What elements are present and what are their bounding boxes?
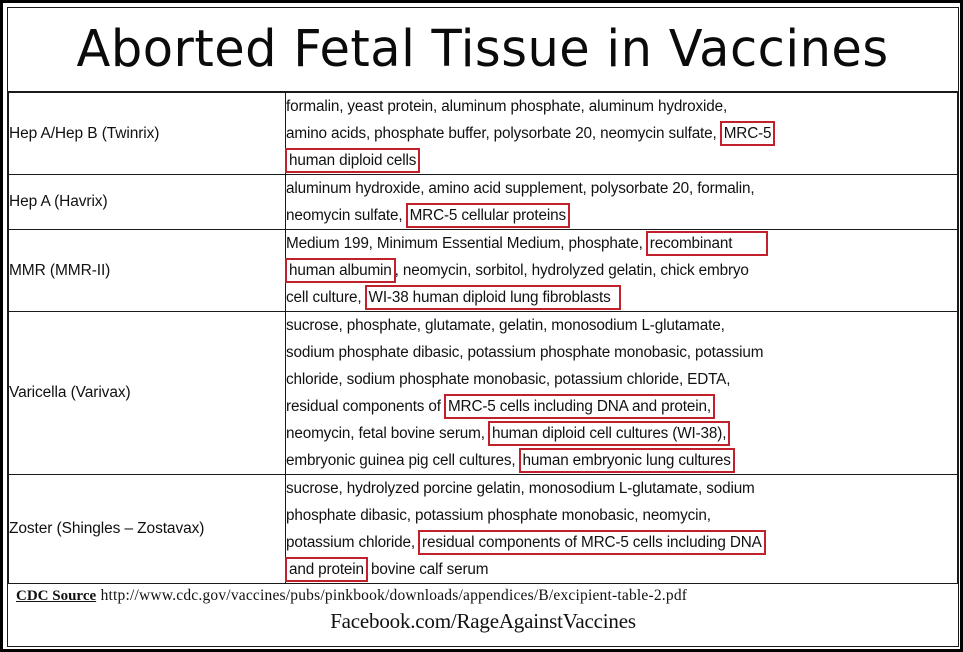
ingredient-text: , neomycin, sorbitol, hydrolyzed gelatin… xyxy=(395,262,749,279)
highlighted-ingredient: and protein xyxy=(285,557,368,582)
source-line: CDC Source http://www.cdc.gov/vaccines/p… xyxy=(16,587,687,605)
vaccine-name-cell: Varicella (Varivax) xyxy=(9,312,286,475)
ingredient-text: sucrose, hydrolyzed porcine gelatin, mon… xyxy=(286,480,755,497)
vaccine-name-cell: Zoster (Shingles – Zostavax) xyxy=(9,475,286,584)
highlighted-ingredient: human embryonic lung cultures xyxy=(519,448,735,473)
highlighted-ingredient: human diploid cell cultures (WI-38), xyxy=(488,421,730,446)
ingredient-line: sodium phosphate dibasic, potassium phos… xyxy=(286,339,957,366)
ingredient-line: formalin, yeast protein, aluminum phosph… xyxy=(286,93,957,120)
ingredient-line: human diploid cells xyxy=(286,147,957,174)
ingredient-line: sucrose, hydrolyzed porcine gelatin, mon… xyxy=(286,475,957,502)
ingredient-lines: aluminum hydroxide, amino acid supplemen… xyxy=(286,175,957,229)
ingredient-line: cell culture, WI-38 human diploid lung f… xyxy=(286,284,957,311)
highlighted-ingredient: recombinant xyxy=(646,231,769,256)
ingredient-text: cell culture, xyxy=(286,289,366,306)
ingredient-text: amino acids, phosphate buffer, polysorba… xyxy=(286,125,717,142)
table-row: MMR (MMR-II)Medium 199, Minimum Essentia… xyxy=(9,230,958,312)
ingredient-lines: sucrose, phosphate, glutamate, gelatin, … xyxy=(286,312,957,474)
cdc-source-url[interactable]: http://www.cdc.gov/vaccines/pubs/pinkboo… xyxy=(101,587,688,604)
highlighted-ingredient: human albumin xyxy=(285,258,396,283)
ingredient-text: bovine calf serum xyxy=(367,561,488,578)
ingredient-line: phosphate dibasic, potassium phosphate m… xyxy=(286,502,957,529)
infographic-frame: Aborted Fetal Tissue in Vaccines Hep A/H… xyxy=(7,7,959,647)
page-title: Aborted Fetal Tissue in Vaccines xyxy=(77,24,889,75)
ingredient-line: aluminum hydroxide, amino acid supplemen… xyxy=(286,175,957,202)
ingredient-text: embryonic guinea pig cell cultures, xyxy=(286,452,520,469)
ingredients-cell: sucrose, phosphate, glutamate, gelatin, … xyxy=(286,312,958,475)
ingredients-cell: formalin, yeast protein, aluminum phosph… xyxy=(286,93,958,175)
ingredients-cell: Medium 199, Minimum Essential Medium, ph… xyxy=(286,230,958,312)
vaccine-name-cell: Hep A/Hep B (Twinrix) xyxy=(9,93,286,175)
ingredient-text: phosphate dibasic, potassium phosphate m… xyxy=(286,507,711,524)
highlighted-ingredient: MRC-5 cells including DNA and protein, xyxy=(444,394,715,419)
vaccine-ingredients-table: Hep A/Hep B (Twinrix)formalin, yeast pro… xyxy=(8,92,958,584)
table-row: Varicella (Varivax)sucrose, phosphate, g… xyxy=(9,312,958,475)
facebook-handle[interactable]: Facebook.com/RageAgainstVaccines xyxy=(8,609,958,634)
ingredient-line: potassium chloride, residual components … xyxy=(286,529,957,556)
ingredient-line: neomycin sulfate, MRC-5 cellular protein… xyxy=(286,202,957,229)
ingredient-line: neomycin, fetal bovine serum, human dipl… xyxy=(286,420,957,447)
ingredient-text: neomycin sulfate, xyxy=(286,207,407,224)
ingredient-text: aluminum hydroxide, amino acid supplemen… xyxy=(286,180,755,197)
title-band: Aborted Fetal Tissue in Vaccines xyxy=(8,8,958,92)
ingredient-line: human albumin, neomycin, sorbitol, hydro… xyxy=(286,257,957,284)
ingredient-text: neomycin, fetal bovine serum, xyxy=(286,425,489,442)
ingredient-text: Medium 199, Minimum Essential Medium, ph… xyxy=(286,235,647,252)
ingredient-line: chloride, sodium phosphate monobasic, po… xyxy=(286,366,957,393)
highlighted-ingredient: residual components of MRC-5 cells inclu… xyxy=(418,530,766,555)
table-row: Hep A (Havrix)aluminum hydroxide, amino … xyxy=(9,175,958,230)
ingredient-lines: formalin, yeast protein, aluminum phosph… xyxy=(286,93,957,174)
ingredient-line: embryonic guinea pig cell cultures, huma… xyxy=(286,447,957,474)
ingredient-line: sucrose, phosphate, glutamate, gelatin, … xyxy=(286,312,957,339)
ingredient-text: chloride, sodium phosphate monobasic, po… xyxy=(286,371,730,388)
vaccine-name-cell: Hep A (Havrix) xyxy=(9,175,286,230)
ingredient-line: residual components of MRC-5 cells inclu… xyxy=(286,393,957,420)
highlighted-ingredient: MRC-5 xyxy=(720,121,776,146)
footer: CDC Source http://www.cdc.gov/vaccines/p… xyxy=(8,585,958,646)
highlighted-ingredient: WI-38 human diploid lung fibroblasts xyxy=(365,285,621,310)
ingredient-text: formalin, yeast protein, aluminum phosph… xyxy=(286,98,727,115)
table-row: Hep A/Hep B (Twinrix)formalin, yeast pro… xyxy=(9,93,958,175)
ingredient-line: amino acids, phosphate buffer, polysorba… xyxy=(286,120,957,147)
table-row: Zoster (Shingles – Zostavax)sucrose, hyd… xyxy=(9,475,958,584)
ingredients-cell: aluminum hydroxide, amino acid supplemen… xyxy=(286,175,958,230)
ingredient-line: Medium 199, Minimum Essential Medium, ph… xyxy=(286,230,957,257)
infographic-page: Aborted Fetal Tissue in Vaccines Hep A/H… xyxy=(0,0,963,652)
highlighted-ingredient: human diploid cells xyxy=(285,148,420,173)
ingredient-text: sucrose, phosphate, glutamate, gelatin, … xyxy=(286,317,725,334)
table-body: Hep A/Hep B (Twinrix)formalin, yeast pro… xyxy=(9,93,958,584)
ingredient-text: residual components of xyxy=(286,398,445,415)
ingredient-text: sodium phosphate dibasic, potassium phos… xyxy=(286,344,763,361)
ingredient-text: potassium chloride, xyxy=(286,534,419,551)
ingredient-lines: sucrose, hydrolyzed porcine gelatin, mon… xyxy=(286,475,957,583)
highlighted-ingredient: MRC-5 cellular proteins xyxy=(406,203,570,228)
cdc-source-label: CDC Source xyxy=(16,588,96,604)
ingredient-line: and protein bovine calf serum xyxy=(286,556,957,583)
vaccine-name-cell: MMR (MMR-II) xyxy=(9,230,286,312)
ingredients-cell: sucrose, hydrolyzed porcine gelatin, mon… xyxy=(286,475,958,584)
ingredient-lines: Medium 199, Minimum Essential Medium, ph… xyxy=(286,230,957,311)
